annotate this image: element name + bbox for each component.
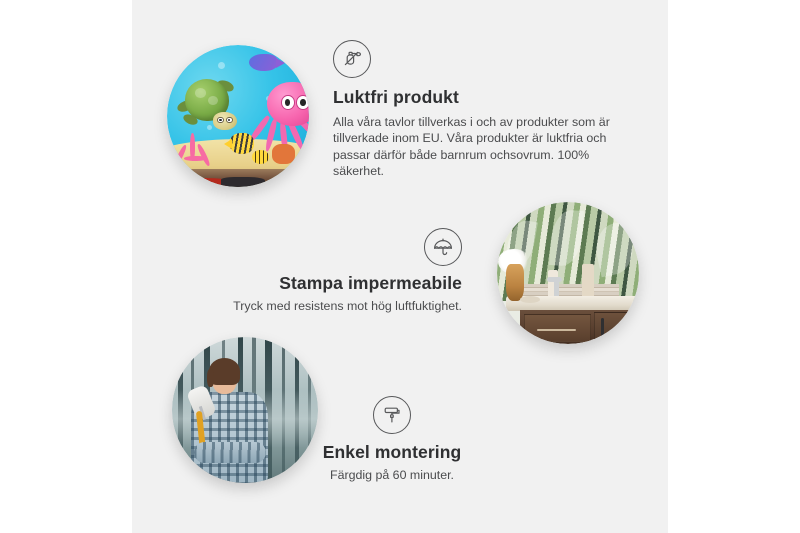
feature-title: Stampa impermeabile	[170, 273, 462, 294]
soap-dish	[520, 296, 540, 303]
bathroom-bottle	[582, 264, 593, 300]
feature-body: Alla våra tavlor tillverkas i och av pro…	[333, 114, 625, 180]
sea-floor	[167, 169, 309, 187]
gold-vase	[506, 264, 524, 301]
umbrella-icon	[424, 228, 462, 266]
person-with-paint-roller	[190, 363, 272, 483]
feature-odour-free: Luktfri produkt Alla våra tavlor tillver…	[333, 40, 625, 180]
paint-roller-icon	[373, 396, 411, 434]
feature-title: Luktfri produkt	[333, 87, 625, 108]
feature-body: Tryck med resistens mot hög luftfuktighe…	[170, 298, 462, 314]
feature-easy-mounting: Enkel montering Färgdig på 60 minuter.	[262, 396, 522, 483]
feature-body: Färgdig på 60 minuter.	[262, 467, 522, 483]
sea-turtle-icon	[181, 79, 248, 136]
feature-title: Enkel montering	[262, 442, 522, 463]
starfish-icon	[272, 144, 295, 164]
photo-underwater-scene	[167, 45, 309, 187]
blue-fish-icon	[249, 54, 277, 71]
feature-waterproof: Stampa impermeabile Tryck med resistens …	[170, 228, 462, 314]
wooden-vanity	[520, 310, 639, 344]
infographic-canvas: Luktfri produkt Alla våra tavlor tillver…	[0, 0, 800, 533]
octopus-icon	[252, 82, 309, 153]
yellow-fish-icon	[229, 133, 253, 154]
photo-bathroom-scene	[497, 202, 639, 344]
no-perfume-icon	[333, 40, 371, 78]
